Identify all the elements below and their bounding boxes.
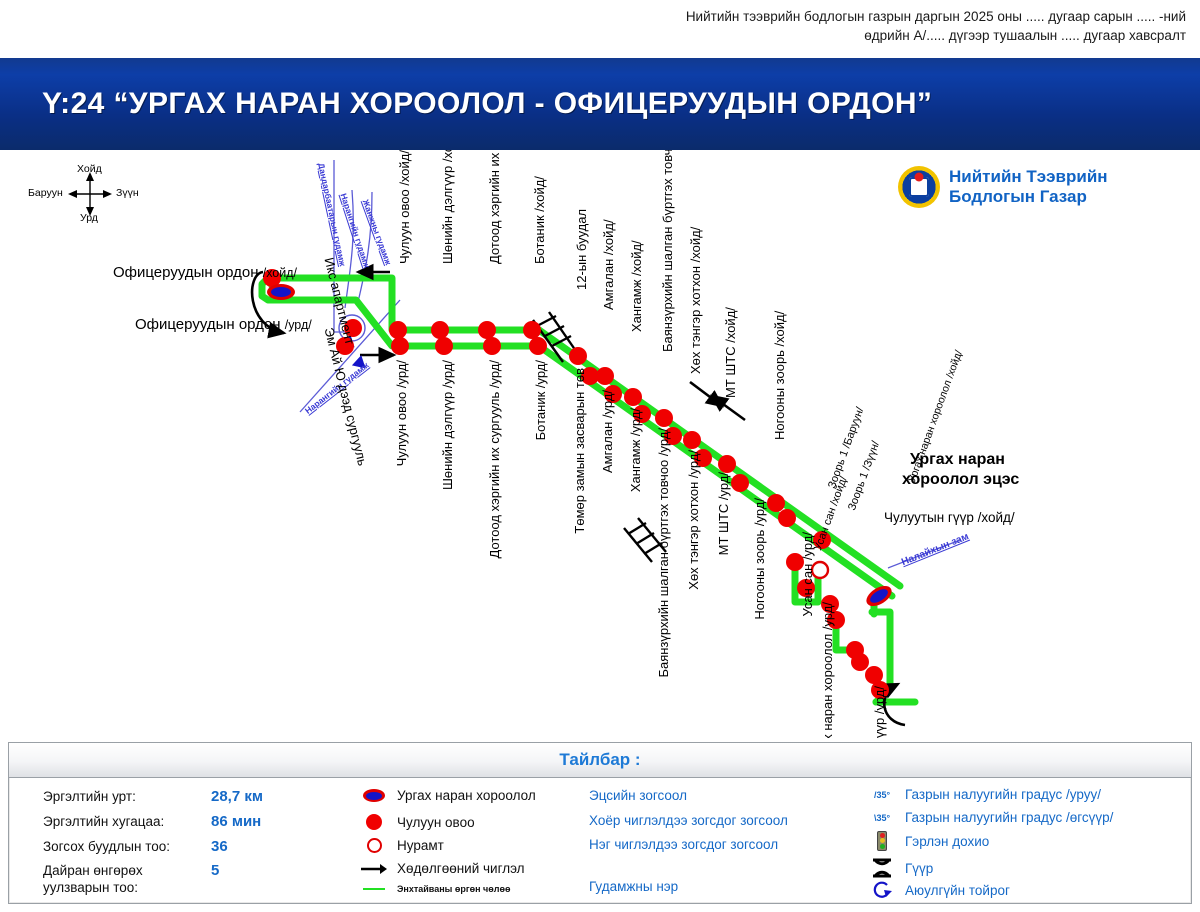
stop-label-s-11: Усан сан /урд/	[800, 532, 815, 617]
legend-label-slope-down: Газрын налуугийн градус /уруу/	[905, 787, 1101, 802]
header-note: Нийтийн тээврийн бодлогын газрын даргын …	[0, 0, 1200, 52]
stop-label-n-1: Шөнийн дэлгүүр /хойд/	[440, 150, 455, 264]
stop-label-s-8: Хөх тэнгэр хотхон /урд/	[686, 450, 701, 590]
stop-label-officer-palace-south-text: Офицеруудын ордон	[135, 316, 281, 333]
stop-label-chuluutyn-guur-north: Чулуутын гүүр /хойд/	[884, 510, 1015, 525]
legend-label-bidirectional-stop: Хоёр чиглэлдээ зогсдог зогсоол	[589, 813, 788, 828]
green-line-icon	[361, 888, 387, 890]
stop-label-officer-palace-south-sfx: /урд/	[285, 318, 312, 332]
stop-label-s-10: Ногооны зоорь /урд/	[752, 498, 767, 620]
slope-down-mark: /35°	[874, 790, 890, 800]
stop-label-s-12: Ургах наран хороолол /урд/	[820, 602, 835, 738]
stat-label-stop-count: Зогсох буудлын тоо:	[43, 838, 211, 855]
stop-label-n-9: МТ ШТС /хойд/	[723, 307, 738, 398]
legend-item-bridge: Гүүр	[869, 857, 933, 879]
legend-item-slope-up: \35° Газрын налуугийн градус /өгсүүр/	[869, 810, 1113, 825]
legend-item-traffic-light: Гэрлэн дохио	[869, 831, 989, 851]
legend-header: Тайлбар :	[9, 743, 1191, 778]
stop-label-officer-palace-north-text: Офицеруудын ордон	[113, 264, 259, 281]
legend-label-final-stop: Эцсийн зогсоол	[589, 788, 687, 803]
stop-label-n-2: Дотоод хэргийн их сургууль /хойд/	[487, 150, 502, 264]
stop-label-s-3: Ботаник /урд/	[533, 360, 548, 440]
legend-item-one-direction-stop: Нэг чиглэлдээ зогсдог зогсоол	[589, 837, 778, 852]
legend-item-final-stop: Эцсийн зогсоол	[589, 788, 687, 803]
stat-label-intersections: Дайран өнгөрөх уулзварын тоо:	[43, 862, 211, 896]
slope-up-icon: \35°	[869, 813, 895, 823]
legend-label-avenue: Энхтайваны өргөн чөлөө	[397, 884, 510, 894]
legend-title: Тайлбар :	[559, 750, 640, 770]
slope-down-icon: /35°	[869, 790, 895, 800]
traffic-light-icon	[869, 831, 895, 851]
stop-label-n-8: Хөх тэнгэр хотхон /хойд/	[688, 227, 703, 374]
route-title-banner: Y:24 “УРГАХ НАРАН ХОРООЛОЛ - ОФИЦЕРУУДЫН…	[0, 56, 1200, 152]
stat-value-trip-length: 28,7 км	[211, 788, 263, 805]
legend-label-street-name: Гудамжны нэр	[589, 879, 678, 894]
bridge-icon	[869, 857, 895, 879]
page-title: Y:24 “УРГАХ НАРАН ХОРООЛОЛ - ОФИЦЕРУУДЫН…	[0, 87, 932, 121]
stop-label-s-9: МТ ШТС /урд/	[716, 472, 731, 555]
stop-label-n-7: Баянзүрхийн шалган бүртгэх товчоо /хойд/	[660, 150, 675, 352]
legend-label-terminus: Ургах наран хороолол	[397, 788, 536, 803]
stop-label-s-6: Хангамж /урд/	[628, 408, 643, 492]
legend-item-direction: Хөдөлгөөний чиглэл	[361, 861, 525, 876]
stop-label-officer-palace-north: Офицеруудын ордон /хойд/	[113, 264, 297, 281]
stop-label-s-1: Шөнийн дэлгүүр /урд/	[440, 360, 455, 490]
legend-label-traffic-light: Гэрлэн дохио	[905, 834, 989, 849]
stop-label-n-0: Чулуун овоо /хойд/	[397, 150, 412, 264]
stat-value-trip-time: 86 мин	[211, 813, 261, 830]
slope-up-mark: \35°	[874, 813, 890, 823]
legend-item-slope-down: /35° Газрын налуугийн градус /уруу/	[869, 787, 1101, 802]
header-note-line-2: өдрийн А/..... дүгээр тушаалын ..... дуг…	[864, 26, 1186, 45]
stop-label-n-10: Ногооны зоорь /хойд/	[772, 311, 787, 440]
legend-item-bidirectional-stop: Хоёр чиглэлдээ зогсдог зогсоол	[589, 813, 788, 828]
arrow-right-icon	[361, 863, 387, 875]
stop-label-n-4: 12-ын буудал	[574, 209, 589, 290]
legend-label-one-direction-stop: Нэг чиглэлдээ зогсдог зогсоол	[589, 837, 778, 852]
stat-value-intersections: 5	[211, 862, 219, 879]
legend-item-avenue: Энхтайваны өргөн чөлөө	[361, 884, 510, 894]
legend-label-bridge: Гүүр	[905, 861, 933, 876]
stop-label-n-3: Ботаник /хойд/	[532, 176, 547, 264]
stop-label-n-6: Хангамж /хойд/	[629, 240, 644, 332]
legend-item-stop: Чулуун овоо	[361, 814, 475, 830]
legend-label-stop: Чулуун овоо	[397, 815, 475, 830]
stat-row-trip-time: Эргэлтийн хугацаа: 86 мин	[43, 813, 261, 830]
stop-label-n-5: Амгалан /хойд/	[601, 219, 616, 310]
legend-panel: Тайлбар : Эргэлтийн урт: 28,7 км Эргэлти…	[8, 742, 1192, 904]
stat-row-intersections: Дайран өнгөрөх уулзварын тоо: 5	[43, 862, 219, 896]
legend-label-roundabout: Аюулгүйн тойрог	[905, 883, 1010, 898]
legend-item-roundabout: Аюулгүйн тойрог	[869, 880, 1010, 900]
legend-item-nuramt: Нурамт	[361, 838, 444, 853]
stop-label-officer-palace-south: Офицеруудын ордон /урд/	[135, 316, 312, 333]
stat-row-trip-length: Эргэлтийн урт: 28,7 км	[43, 788, 263, 805]
red-dot-icon	[361, 814, 387, 830]
stop-label-officer-palace-north-sfx: /хойд/	[263, 266, 297, 280]
stop-label-s-7: Баянзүрхийн шалган бүртгэх товчоо /урд/	[656, 428, 671, 678]
stop-label-s-0: Чулуун овоо /урд/	[394, 360, 409, 466]
stop-label-s-5: Амгалан /урд/	[600, 390, 615, 473]
header-note-line-1: Нийтийн тээврийн бодлогын газрын даргын …	[686, 7, 1186, 26]
terminus-dot-icon	[361, 789, 387, 802]
stop-label-s-13: Чулуутын гүүр /урд/	[872, 686, 887, 738]
stop-label-s-2: Дотоод хэргийн их сургууль /урд/	[487, 360, 502, 558]
stat-label-trip-time: Эргэлтийн хугацаа:	[43, 813, 211, 830]
legend-label-direction: Хөдөлгөөний чиглэл	[397, 861, 525, 876]
stop-label-s-4: Төмөр замын засварын төв	[572, 368, 587, 534]
legend-label-slope-up: Газрын налуугийн градус /өгсүүр/	[905, 810, 1113, 825]
hollow-dot-icon	[361, 838, 387, 853]
stat-row-stop-count: Зогсох буудлын тоо: 36	[43, 838, 228, 855]
stat-value-stop-count: 36	[211, 838, 228, 855]
roundabout-icon	[869, 880, 895, 900]
legend-label-nuramt: Нурамт	[397, 838, 444, 853]
legend-item-street-name: Гудамжны нэр	[589, 879, 678, 894]
legend-item-terminus: Ургах наран хороолол	[361, 788, 536, 803]
route-map[interactable]: Хойд Урд Зүүн Баруун Нийтийн Тээврийн Бо…	[0, 150, 1200, 738]
legend-body: Эргэлтийн урт: 28,7 км Эргэлтийн хугацаа…	[9, 778, 1191, 904]
stat-label-trip-length: Эргэлтийн урт:	[43, 788, 211, 805]
